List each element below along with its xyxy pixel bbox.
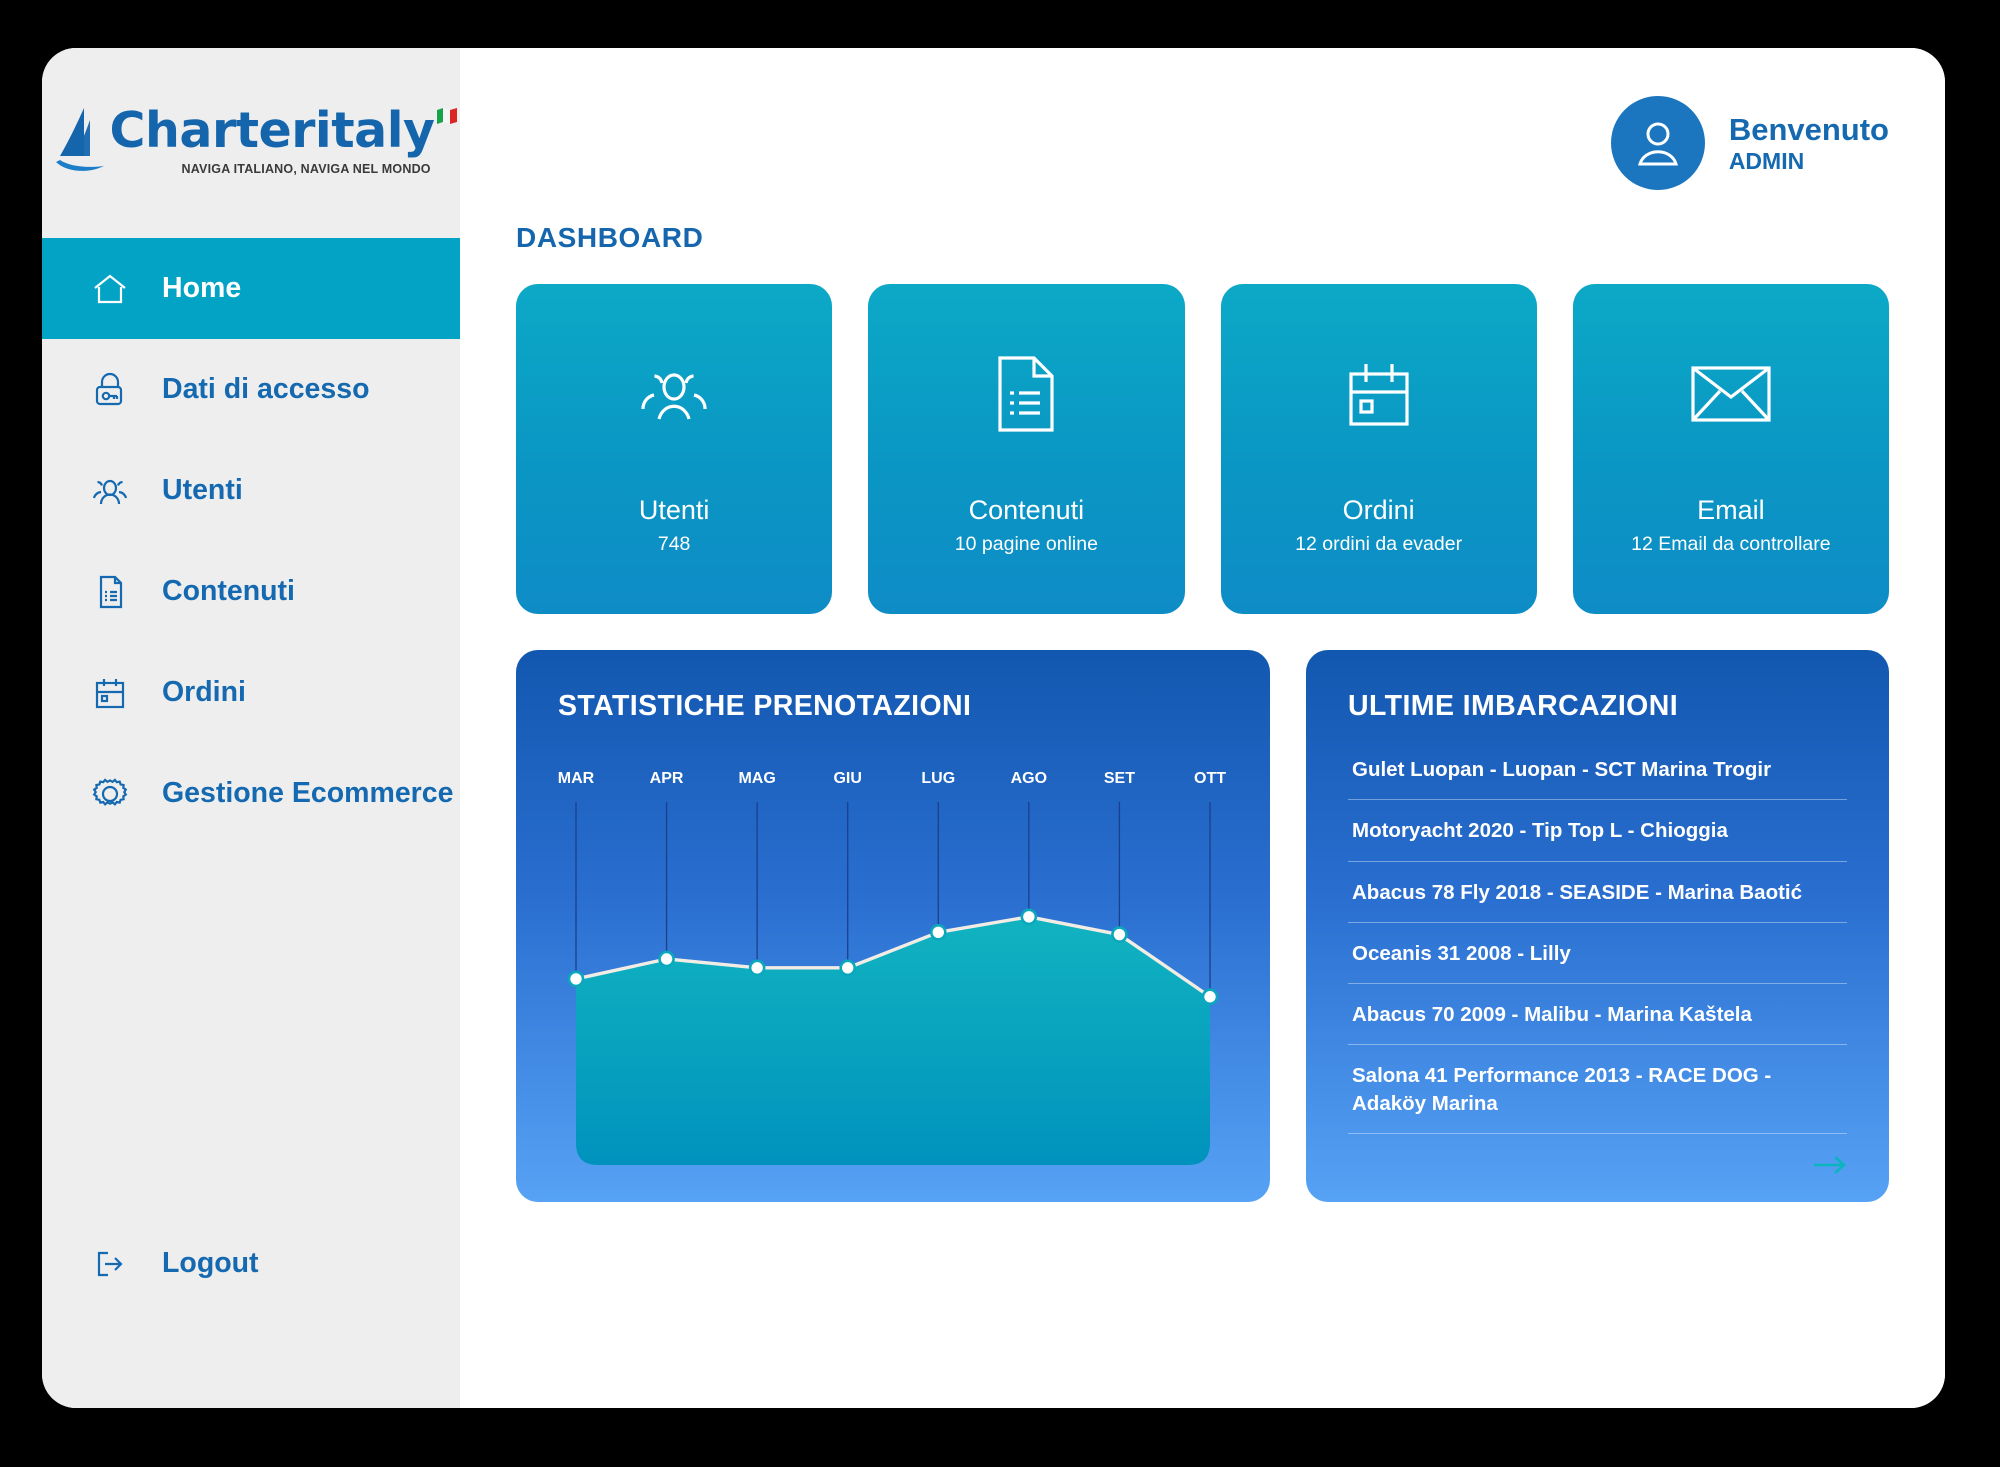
chart-data-point[interactable] [569, 972, 583, 986]
main-content: Benvenuto ADMIN DASHBOARD Utenti 748 [460, 48, 1945, 1408]
gear-icon [90, 774, 130, 814]
document-icon [996, 346, 1056, 442]
stat-card-title: Utenti [639, 494, 710, 528]
sidebar-item-label: Utenti [162, 474, 243, 507]
italian-flag-icon [436, 108, 458, 134]
brand-name: Charteritaly [110, 106, 435, 155]
statistiche-prenotazioni-panel: STATISTICHE PRENOTAZIONI MARAPRMAGGIULUG… [516, 650, 1270, 1202]
sidebar-item-label: Home [162, 272, 241, 305]
sidebar-item-home[interactable]: Home [42, 238, 460, 339]
list-item[interactable]: Abacus 70 2009 - Malibu - Marina Kaštela [1348, 984, 1847, 1045]
list-item[interactable]: Abacus 78 Fly 2018 - SEASIDE - Marina Ba… [1348, 862, 1847, 923]
user-avatar-icon [1611, 96, 1705, 190]
panel-title: ULTIME IMBARCAZIONI [1306, 650, 1889, 723]
stat-cards: Utenti 748 Contenuti 10 pagine online [516, 284, 1889, 614]
list-item[interactable]: Oceanis 31 2008 - Lilly [1348, 923, 1847, 984]
ultime-imbarcazioni-panel: ULTIME IMBARCAZIONI Gulet Luopan - Luopa… [1306, 650, 1889, 1202]
stat-card-contenuti[interactable]: Contenuti 10 pagine online [868, 284, 1184, 614]
boats-list: Gulet Luopan - Luopan - SCT Marina Trogi… [1348, 754, 1847, 1134]
users-icon [90, 471, 130, 511]
sidebar-nav: Home Dati di accesso [42, 238, 460, 844]
sidebar-item-dati-di-accesso[interactable]: Dati di accesso [42, 339, 460, 440]
stat-card-email[interactable]: Email 12 Email da controllare [1573, 284, 1889, 614]
stat-card-ordini[interactable]: Ordini 12 ordini da evader [1221, 284, 1537, 614]
chart-data-point[interactable] [1203, 990, 1217, 1004]
sidebar-item-ordini[interactable]: Ordini [42, 642, 460, 743]
panel-title: STATISTICHE PRENOTAZIONI [516, 650, 1270, 723]
list-item[interactable]: Gulet Luopan - Luopan - SCT Marina Trogi… [1348, 754, 1847, 800]
chart-tick-label: SET [1104, 770, 1135, 787]
sidebar-item-label: Contenuti [162, 575, 295, 608]
chart-data-point[interactable] [750, 961, 764, 975]
home-icon [90, 269, 130, 309]
stat-card-title: Contenuti [969, 494, 1085, 528]
stat-card-utenti[interactable]: Utenti 748 [516, 284, 832, 614]
sidebar: Charteritaly NAVIGA ITALIANO, NAVIGA NEL… [42, 48, 460, 1408]
stat-card-sub: 748 [658, 532, 691, 558]
list-item[interactable]: Salona 41 Performance 2013 - RACE DOG - … [1348, 1045, 1847, 1134]
chart-data-point[interactable] [1112, 928, 1126, 942]
header: Benvenuto ADMIN [516, 48, 1889, 238]
sidebar-item-label: Logout [162, 1247, 259, 1280]
document-icon [90, 572, 130, 612]
sidebar-item-logout[interactable]: Logout [42, 1213, 460, 1314]
chart-data-point[interactable] [660, 952, 674, 966]
sailboat-icon [54, 106, 110, 180]
app-window: Charteritaly NAVIGA ITALIANO, NAVIGA NEL… [42, 48, 1945, 1408]
user-role: ADMIN [1729, 150, 1889, 173]
chart-data-point[interactable] [931, 925, 945, 939]
stat-card-title: Email [1697, 494, 1765, 528]
sidebar-item-label: Ordini [162, 676, 246, 709]
chart-data-point[interactable] [1022, 910, 1036, 924]
chart-tick-label: OTT [1194, 770, 1226, 787]
logout-arrow-icon [90, 1244, 130, 1284]
stat-card-sub: 10 pagine online [955, 532, 1098, 558]
chart-tick-label: APR [650, 770, 684, 787]
chart-tick-label: MAR [558, 770, 595, 787]
user-menu[interactable]: Benvenuto ADMIN [1611, 96, 1889, 190]
stat-card-title: Ordini [1343, 494, 1415, 528]
calendar-icon [1343, 346, 1415, 442]
chart-tick-label: MAG [738, 770, 775, 787]
dashboard-panels: STATISTICHE PRENOTAZIONI MARAPRMAGGIULUG… [516, 650, 1889, 1202]
lock-key-icon [90, 370, 130, 410]
stat-card-sub: 12 Email da controllare [1631, 532, 1830, 558]
chart-data-point[interactable] [841, 961, 855, 975]
brand-tagline: NAVIGA ITALIANO, NAVIGA NEL MONDO [182, 162, 459, 176]
stat-card-sub: 12 ordini da evader [1295, 532, 1462, 558]
bookings-chart[interactable]: MARAPRMAGGIULUGAGOSETOTT [516, 750, 1270, 1202]
sidebar-item-gestione-ecommerce[interactable]: Gestione Ecommerce [42, 743, 460, 844]
sidebar-item-utenti[interactable]: Utenti [42, 440, 460, 541]
arrow-right-icon[interactable] [1813, 1154, 1847, 1176]
list-item[interactable]: Motoryacht 2020 - Tip Top L - Chioggia [1348, 800, 1847, 861]
chart-tick-label: AGO [1011, 770, 1047, 787]
chart-tick-label: LUG [921, 770, 955, 787]
chart-tick-label: GIU [833, 770, 861, 787]
page-title: DASHBOARD [516, 222, 1889, 254]
welcome-text: Benvenuto [1729, 114, 1889, 145]
sidebar-item-label: Gestione Ecommerce [162, 777, 453, 810]
sidebar-item-label: Dati di accesso [162, 373, 370, 406]
users-icon [637, 346, 711, 442]
envelope-icon [1689, 346, 1773, 442]
brand-logo[interactable]: Charteritaly NAVIGA ITALIANO, NAVIGA NEL… [42, 48, 460, 238]
calendar-icon [90, 673, 130, 713]
sidebar-item-contenuti[interactable]: Contenuti [42, 541, 460, 642]
